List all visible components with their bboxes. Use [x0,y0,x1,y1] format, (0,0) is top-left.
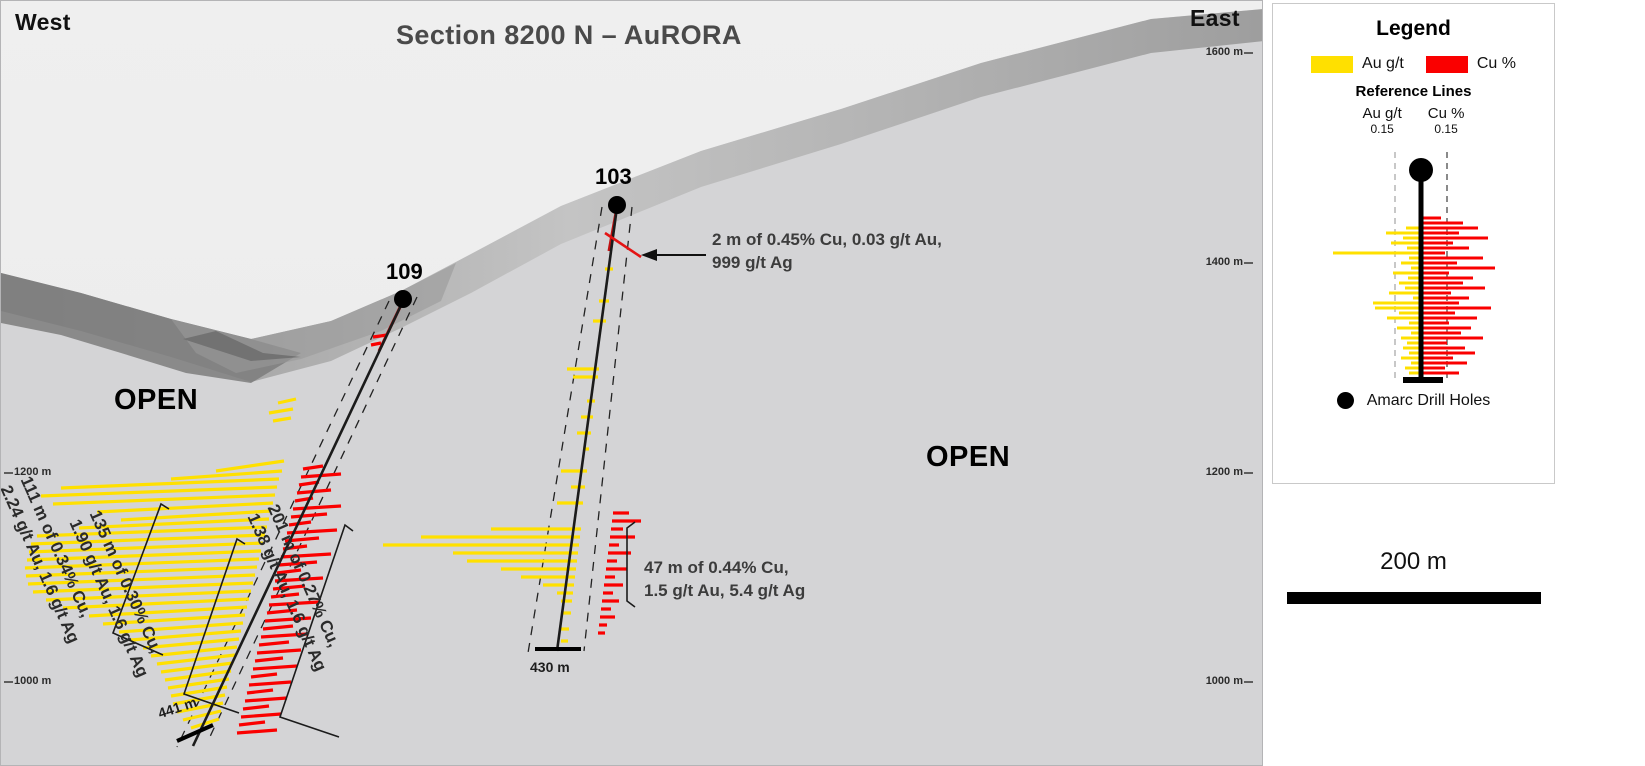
bracket-47m [627,522,635,607]
drillhole-103-collar [608,196,626,214]
legend-hole-collar [1409,158,1433,182]
scale-bar-group: 200 m [1272,548,1555,604]
callout-103-arrow [641,249,657,261]
elevation-label-1000-right: 1000 m [1197,675,1243,687]
elevation-label-1200-right: 1200 m [1197,466,1243,478]
legend-panel: Legend Au g/t Cu % Reference Lines Au g/… [1272,3,1555,484]
reference-line-au-name: Au g/t [1363,105,1402,122]
legend-drill-holes-label: Amarc Drill Holes [1367,392,1491,410]
direction-label-east: East [1190,5,1240,32]
direction-label-west: West [15,9,71,36]
callout-103: 2 m of 0.45% Cu, 0.03 g/t Au, 999 g/t Ag [712,229,942,275]
elevation-label-1400-right: 1400 m [1197,256,1243,268]
scale-bar-label: 200 m [1272,548,1555,576]
callout-103-line2: 999 g/t Ag [712,252,942,275]
legend-example-graphic [1273,140,1556,390]
legend-item-cu: Cu % [1426,55,1516,73]
reference-line-au-value: 0.15 [1363,122,1402,138]
reference-lines-title: Reference Lines [1273,83,1554,100]
section-figure: West East Section 8200 N – AuRORA OPEN O… [0,0,1645,766]
callout-103-line1: 2 m of 0.45% Cu, 0.03 g/t Au, [712,229,942,252]
cu-color-swatch [1426,56,1468,73]
open-label-east: OPEN [926,441,1010,474]
au-color-swatch [1311,56,1353,73]
callout-47m-line2: 1.5 g/t Au, 5.4 g/t Ag [644,580,805,603]
open-label-west: OPEN [114,384,198,417]
reference-line-cu-value: 0.15 [1428,122,1465,138]
drillhole-label-109[interactable]: 109 [386,259,423,285]
page-title: Section 8200 N – AuRORA [396,20,742,51]
legend-item-au: Au g/t [1311,55,1404,73]
legend-cu-bars [1423,218,1495,373]
cross-section-panel: West East Section 8200 N – AuRORA OPEN O… [0,0,1263,766]
callout-47m: 47 m of 0.44% Cu, 1.5 g/t Au, 5.4 g/t Ag [644,557,805,603]
callout-47m-line1: 47 m of 0.44% Cu, [644,557,805,580]
cu-label: Cu % [1477,55,1516,73]
drillhole-103-au-bars [383,269,613,641]
drill-hole-dot-icon [1337,392,1354,409]
legend-drill-holes-entry: Amarc Drill Holes [1273,392,1554,410]
elevation-label-1600-right: 1600 m [1197,46,1243,58]
legend-au-bars [1333,228,1419,373]
au-label: Au g/t [1362,55,1404,73]
scale-bar [1287,592,1541,604]
drillhole-109-collar [394,290,412,308]
elevation-label-1000-left: 1000 m [14,675,51,687]
legend-swatches: Au g/t Cu % [1273,55,1554,73]
legend-example-hole [1273,140,1554,390]
reference-line-cu-name: Cu % [1428,105,1465,122]
drillhole-103-depth-label: 430 m [530,659,570,675]
reference-line-cu: Cu % 0.15 [1428,105,1465,138]
elevation-ticks-right [1244,53,1253,682]
drillhole-label-103[interactable]: 103 [595,164,632,190]
drillhole-103-cu-bars [598,513,641,633]
legend-title: Legend [1273,17,1554,41]
topography-group [1,1,1263,383]
reference-line-au: Au g/t 0.15 [1363,105,1402,138]
reference-lines-values: Au g/t 0.15 Cu % 0.15 [1273,105,1554,138]
